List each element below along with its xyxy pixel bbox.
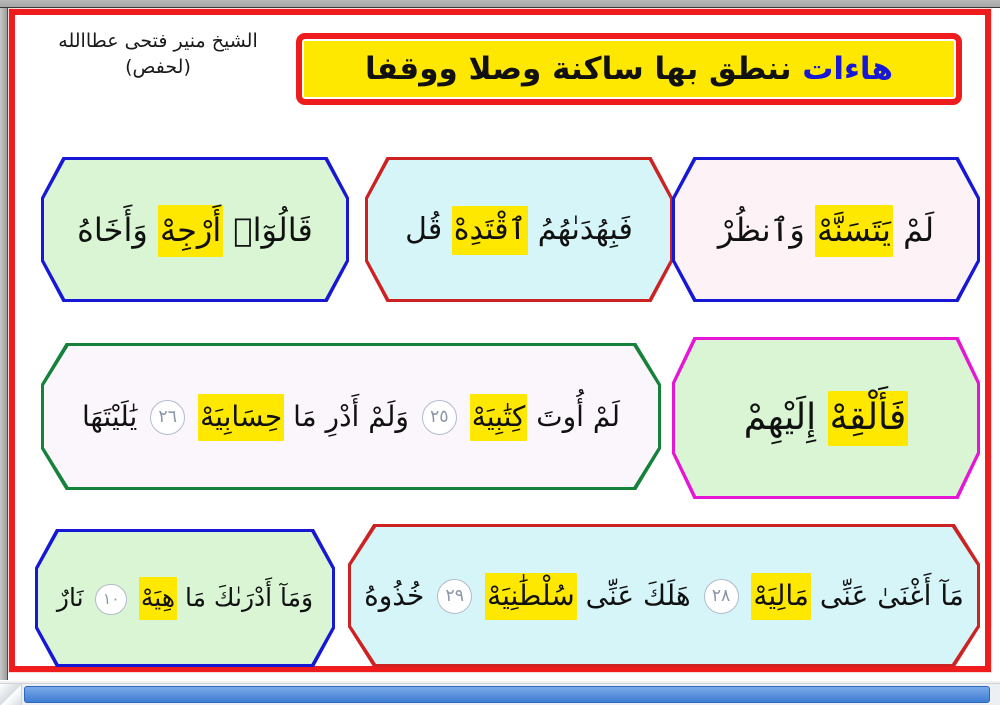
verse-text-segment: قُل — [405, 212, 452, 247]
author-riwaya: (لحفص) — [33, 55, 283, 81]
verse-text-segment: وَٱنظُرْ — [718, 211, 815, 249]
verse-card-7: مَآ أَغْنَىٰ عَنِّى مَالِيَهْ ٢٨ هَلَكَ … — [348, 524, 980, 667]
highlighted-word: هِيَهْ — [139, 577, 177, 620]
verse-text-segment: لَمْ — [893, 211, 934, 249]
title-keyword: هاءات — [802, 51, 893, 87]
highlighted-word: مَالِيَهْ — [751, 573, 811, 620]
verse-card-5: فَأَلْقِهْ إِلَيْهِمْ — [672, 337, 980, 499]
verse-card-4: لَمْ أُوتَ كِتَٰبِيَهْ ٢٥ وَلَمْ أَدْرِ … — [41, 343, 661, 490]
verse-text-segment: يَٰلَيْتَهَا — [82, 400, 146, 433]
card-6-text: وَمَآ أَدْرَىٰكَ مَا هِيَهْ ١٠ نَارٌ — [57, 579, 313, 617]
highlighted-word: ٱقْتَدِهْ — [452, 206, 528, 255]
horizontal-scrollbar-thumb[interactable] — [24, 686, 990, 703]
verse-text-segment — [189, 400, 198, 433]
window-top-chrome — [0, 0, 1000, 8]
verse-card-1: قَالُوٓا۟ أَرْجِهْ وَأَخَاهُ — [41, 157, 349, 302]
verse-text-segment: وَأَخَاهُ — [77, 211, 158, 249]
verse-number-marker: ٢٨ — [704, 579, 739, 614]
author-byline: الشيخ منير فتحى عطاالله (لحفص) — [33, 29, 283, 80]
card-3-text: لَمْ يَتَسَنَّهْ وَٱنظُرْ — [718, 206, 934, 254]
highlighted-word: فَأَلْقِهْ — [828, 391, 909, 446]
title-banner: هاءات ننطق بها ساكنة وصلا ووقفا — [296, 33, 962, 105]
card-4-text: لَمْ أُوتَ كِتَٰبِيَهْ ٢٥ وَلَمْ أَدْرِ … — [82, 396, 620, 438]
verse-text-segment: مَآ أَغْنَىٰ عَنِّى — [811, 579, 964, 612]
verse-text-segment: خُذُوهُ — [364, 579, 433, 612]
verse-text-segment — [461, 400, 470, 433]
verse-number-marker: ٢٩ — [437, 579, 472, 614]
poster: الشيخ منير فتحى عطاالله (لحفص) هاءات ننط… — [9, 9, 991, 672]
verse-text-segment: لَمْ أُوتَ — [527, 400, 620, 433]
horizontal-scrollbar-track[interactable] — [0, 683, 1000, 705]
verse-card-3: لَمْ يَتَسَنَّهْ وَٱنظُرْ — [672, 157, 980, 302]
page-title: هاءات ننطق بها ساكنة وصلا ووقفا — [365, 51, 893, 87]
verse-text-segment: قَالُوٓا۟ — [223, 211, 313, 249]
verse-text-segment: وَمَآ أَدْرَىٰكَ مَا — [177, 583, 313, 612]
scrollbar-corner — [0, 683, 22, 705]
highlighted-word: حِسَابِيَهْ — [198, 394, 284, 441]
card-2-text: فَبِهُدَىٰهُمُ ٱقْتَدِهْ قُل — [405, 207, 633, 252]
verse-number-marker: ٢٥ — [422, 400, 457, 435]
verse-text-segment — [131, 583, 139, 612]
verse-text-segment: نَارٌ — [57, 583, 92, 612]
verse-number-marker: ٢٦ — [150, 400, 185, 435]
highlighted-word: سُلْطَٰنِيَهْ — [485, 573, 577, 620]
card-5-text: فَأَلْقِهْ إِلَيْهِمْ — [744, 391, 909, 445]
verse-text-segment — [476, 579, 485, 612]
title-rest: ننطق بها ساكنة وصلا ووقفا — [365, 51, 802, 87]
verse-number-marker: ١٠ — [95, 584, 126, 615]
card-7-text: مَآ أَغْنَىٰ عَنِّى مَالِيَهْ ٢٨ هَلَكَ … — [364, 575, 964, 617]
verse-text-segment: وَلَمْ أَدْرِ مَا — [284, 400, 418, 433]
verse-text-segment: فَبِهُدَىٰهُمُ — [528, 212, 633, 247]
highlighted-word: أَرْجِهْ — [158, 205, 223, 257]
highlighted-word: يَتَسَنَّهْ — [815, 205, 893, 257]
verse-text-segment: هَلَكَ عَنِّى — [577, 579, 700, 612]
verse-card-6: وَمَآ أَدْرَىٰكَ مَا هِيَهْ ١٠ نَارٌ — [35, 529, 335, 667]
card-1-text: قَالُوٓا۟ أَرْجِهْ وَأَخَاهُ — [77, 206, 313, 254]
author-name: الشيخ منير فتحى عطاالله — [58, 30, 257, 52]
window-bottom-chrome — [0, 681, 1000, 705]
screen: الشيخ منير فتحى عطاالله (لحفص) هاءات ننط… — [0, 0, 1000, 705]
window-left-chrome — [0, 8, 8, 680]
verse-card-2: فَبِهُدَىٰهُمُ ٱقْتَدِهْ قُل — [365, 157, 673, 302]
verse-text-segment: إِلَيْهِمْ — [744, 397, 828, 438]
highlighted-word: كِتَٰبِيَهْ — [470, 394, 528, 441]
